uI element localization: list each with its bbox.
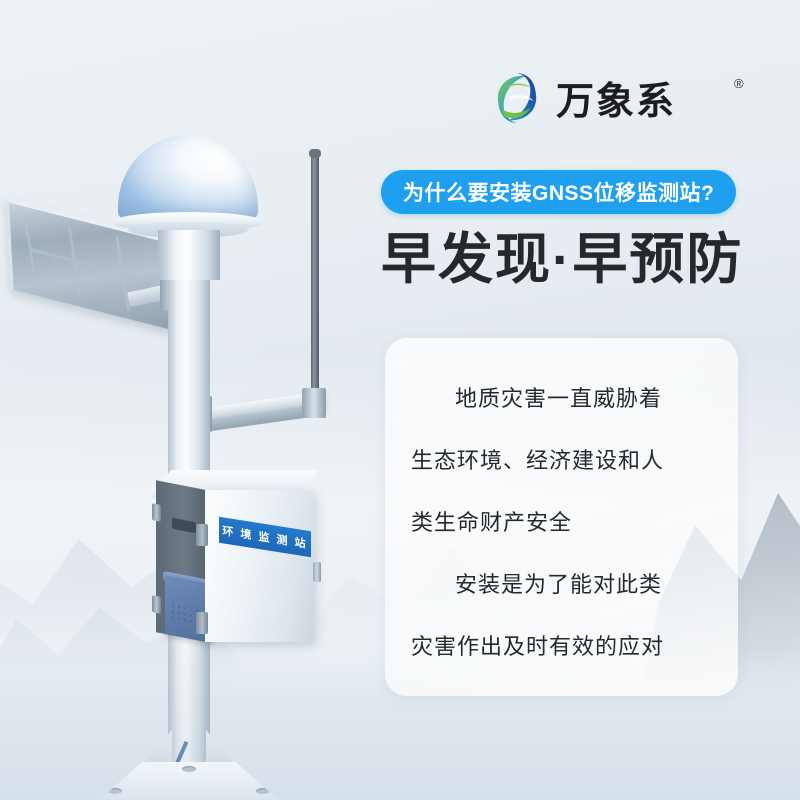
question-banner-text: 为什么要安装GNSS位移监测站? [403,177,714,207]
description-line-4: 安装是为了能对此类 [411,554,712,616]
description-card: 地质灾害一直威胁着 生态环境、经济建设和人 类生命财产安全 安装是为了能对此类 … [385,338,738,696]
description-line-3: 类生命财产安全 [411,492,712,554]
enclosure-bracket-top [196,524,208,546]
registered-trademark-icon: ® [734,76,744,91]
brand-name: 万象系 [556,70,676,125]
whip-antenna-mount [302,388,326,418]
gnss-dome-antenna [118,135,258,220]
whip-antenna [311,153,319,393]
question-banner[interactable]: 为什么要安装GNSS位移监测站? [381,170,736,214]
content-column: 万象系 ® 为什么要安装GNSS位移监测站? 早发现·早预防 地质灾害一直威胁着… [375,0,800,800]
whip-antenna-cap [309,149,321,158]
product-illustration: 环 境 监 测 站 [0,100,380,760]
enclosure-front-door [205,490,313,642]
description-line-2: 生态环境、经济建设和人 [411,430,712,492]
enclosure-bracket-bottom [196,612,208,634]
description-line-5: 灾害作出及时有效的应对 [411,616,712,678]
brand-lockup: 万象系 ® [490,70,676,125]
page-title: 早发现·早预防 [381,228,743,291]
description-line-1: 地质灾害一直威胁着 [411,368,712,430]
enclosure-hinge-bottom [152,595,161,614]
swirl-globe-icon [490,71,544,125]
enclosure-latch [313,562,321,582]
enclosure-hinge-top [152,503,161,522]
poster-canvas: 环 境 监 测 站 [0,0,800,800]
dome-antenna-neck [158,230,220,280]
